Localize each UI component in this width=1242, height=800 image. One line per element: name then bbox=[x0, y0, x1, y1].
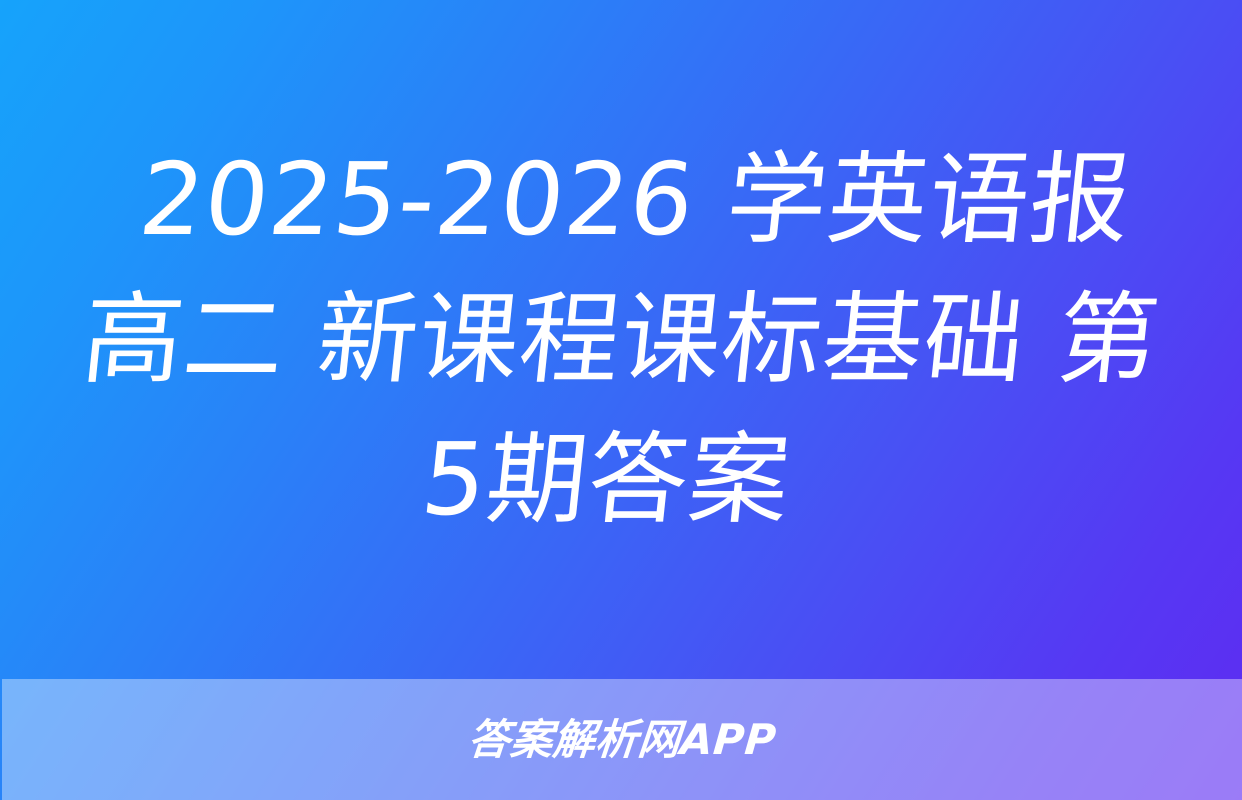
page-title: 2025-2026 学英语报 高二 新课程课标基础 第5期答案 bbox=[50, 130, 1192, 550]
watermark-brand-label: 答案解析网APP bbox=[466, 719, 778, 761]
poster-root: 2025-2026 学英语报 高二 新课程课标基础 第5期答案 答案解析网APP bbox=[0, 0, 1242, 800]
watermark-band: 答案解析网APP bbox=[2, 679, 1242, 800]
headline-container: 2025-2026 学英语报 高二 新课程课标基础 第5期答案 bbox=[0, 0, 1242, 679]
